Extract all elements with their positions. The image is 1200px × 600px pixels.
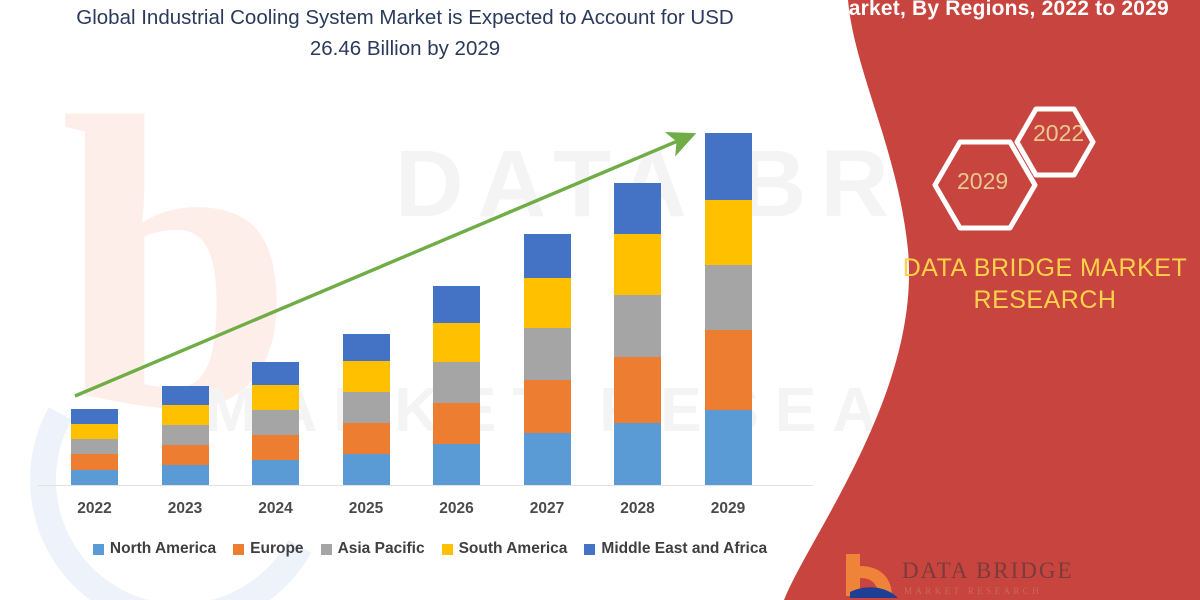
bar-segment[interactable] [524,433,571,485]
bar-segment[interactable] [162,405,209,425]
bar-segment[interactable] [705,200,752,265]
x-axis-tick-2028: 2028 [598,500,678,518]
bar-segment[interactable] [162,386,209,405]
bar-segment[interactable] [705,265,752,330]
bar-segment[interactable] [343,423,390,454]
legend-label: Asia Pacific [338,540,425,558]
bar-segment[interactable] [71,454,118,469]
bar-2024[interactable] [252,362,299,485]
bar-segment[interactable] [705,330,752,410]
bar-segment[interactable] [705,133,752,200]
legend-swatch-icon [93,544,104,555]
bar-segment[interactable] [252,362,299,385]
x-axis-tick-2025: 2025 [326,500,406,518]
bar-segment[interactable] [524,380,571,432]
bar-2023[interactable] [162,386,209,485]
bar-segment[interactable] [343,454,390,485]
bar-segment[interactable] [614,423,661,485]
bar-2026[interactable] [433,286,480,486]
bar-segment[interactable] [71,439,118,454]
footer-logo: DATA BRIDGE MARKET RESEARCH [840,552,1180,600]
bar-segment[interactable] [614,295,661,357]
hexagon-group: 2029 2022 [905,90,1135,270]
bar-segment[interactable] [252,435,299,460]
brand-line-1: DATA BRIDGE MARKET [880,252,1200,284]
bar-segment[interactable] [162,465,209,485]
panel-title: Market, By Regions, 2022 to 2029 [800,0,1200,22]
bar-segment[interactable] [614,357,661,423]
legend-item-1[interactable]: Europe [233,540,303,558]
bar-segment[interactable] [71,424,118,439]
bar-2028[interactable] [614,183,661,485]
legend-label: Middle East and Africa [601,540,767,558]
bar-2029[interactable] [705,133,752,485]
x-axis-line [38,485,813,486]
footer-logo-text: DATA BRIDGE [902,558,1074,584]
bar-segment[interactable] [524,234,571,278]
bar-segment[interactable] [433,444,480,485]
bar-segment[interactable] [252,410,299,435]
bar-segment[interactable] [343,392,390,423]
x-axis-tick-2029: 2029 [688,500,768,518]
legend-label: North America [110,540,216,558]
bar-segment[interactable] [614,183,661,234]
x-axis-tick-2022: 2022 [55,500,135,518]
legend-swatch-icon [233,544,244,555]
bar-segment[interactable] [524,328,571,380]
legend-swatch-icon [442,544,453,555]
bar-segment[interactable] [252,460,299,485]
bar-segment[interactable] [71,470,118,485]
brand-line-2: RESEARCH [880,284,1200,316]
brand-name: DATA BRIDGE MARKET RESEARCH [880,252,1200,316]
bar-segment[interactable] [343,361,390,392]
bar-2027[interactable] [524,234,571,485]
logo-bridge-icon [840,552,900,600]
bar-segment[interactable] [433,362,480,403]
x-axis-tick-2023: 2023 [145,500,225,518]
bar-2022[interactable] [71,409,118,485]
bar-segment[interactable] [705,410,752,485]
bar-segment[interactable] [252,385,299,410]
legend-item-3[interactable]: South America [442,540,568,558]
bar-segment[interactable] [614,234,661,295]
hexagon-2022-label: 2022 [1033,120,1084,147]
bar-2025[interactable] [343,334,390,485]
legend-label: South America [459,540,568,558]
hexagon-2029-label: 2029 [957,168,1008,195]
chart-plot-area: 20222023202420252026202720282029 [0,0,820,600]
bar-segment[interactable] [433,286,480,323]
bar-segment[interactable] [524,278,571,328]
x-axis-tick-2024: 2024 [236,500,316,518]
legend-item-2[interactable]: Asia Pacific [321,540,425,558]
legend-label: Europe [250,540,303,558]
x-axis-tick-2027: 2027 [507,500,587,518]
bar-segment[interactable] [71,409,118,424]
footer-logo-subtext: MARKET RESEARCH [904,586,1042,596]
bar-segment[interactable] [162,425,209,445]
bar-segment[interactable] [433,323,480,362]
bar-segment[interactable] [162,445,209,465]
legend-swatch-icon [584,544,595,555]
legend-item-4[interactable]: Middle East and Africa [584,540,767,558]
bar-segment[interactable] [343,334,390,361]
legend-swatch-icon [321,544,332,555]
chart-legend: North AmericaEuropeAsia PacificSouth Ame… [40,540,820,558]
bar-segment[interactable] [433,403,480,444]
x-axis-tick-2026: 2026 [417,500,497,518]
legend-item-0[interactable]: North America [93,540,216,558]
infographic-canvas: b DATA BRIDGE MARKET RESEARCH Global Ind… [0,0,1200,600]
